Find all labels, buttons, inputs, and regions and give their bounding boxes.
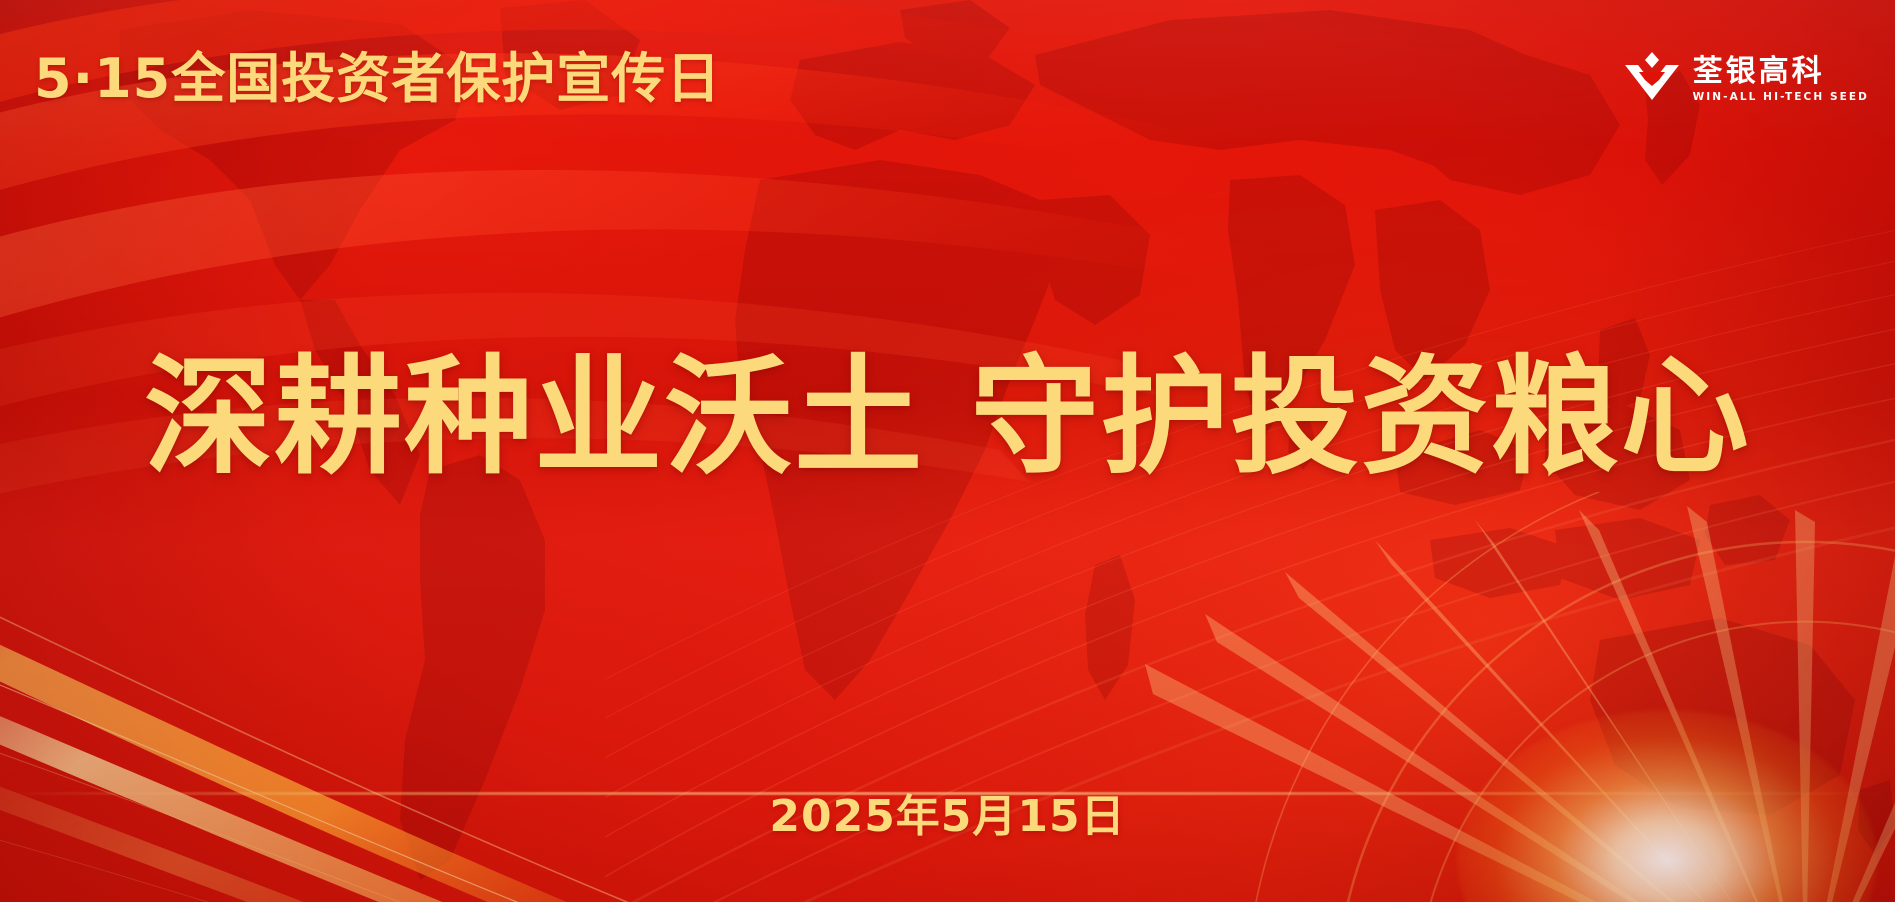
poster-canvas: 5·15全国投资者保护宣传日 荃银高科 WIN-ALL HI-TECH SEED… (0, 0, 1895, 902)
company-logo: 荃银高科 WIN-ALL HI-TECH SEED (1625, 52, 1869, 108)
poster-main-title: 深耕种业沃土 守护投资粮心 (0, 344, 1895, 492)
logo-name-en: WIN-ALL HI-TECH SEED (1693, 92, 1869, 103)
logo-wordmark: 荃银高科 WIN-ALL HI-TECH SEED (1693, 57, 1869, 103)
logo-name-cn: 荃银高科 (1693, 57, 1869, 87)
poster-content: 5·15全国投资者保护宣传日 荃银高科 WIN-ALL HI-TECH SEED… (0, 0, 1895, 902)
campaign-headline: 5·15全国投资者保护宣传日 (34, 52, 721, 106)
event-date: 2025年5月15日 (0, 795, 1895, 839)
chevron-diamond-icon (1625, 52, 1679, 108)
